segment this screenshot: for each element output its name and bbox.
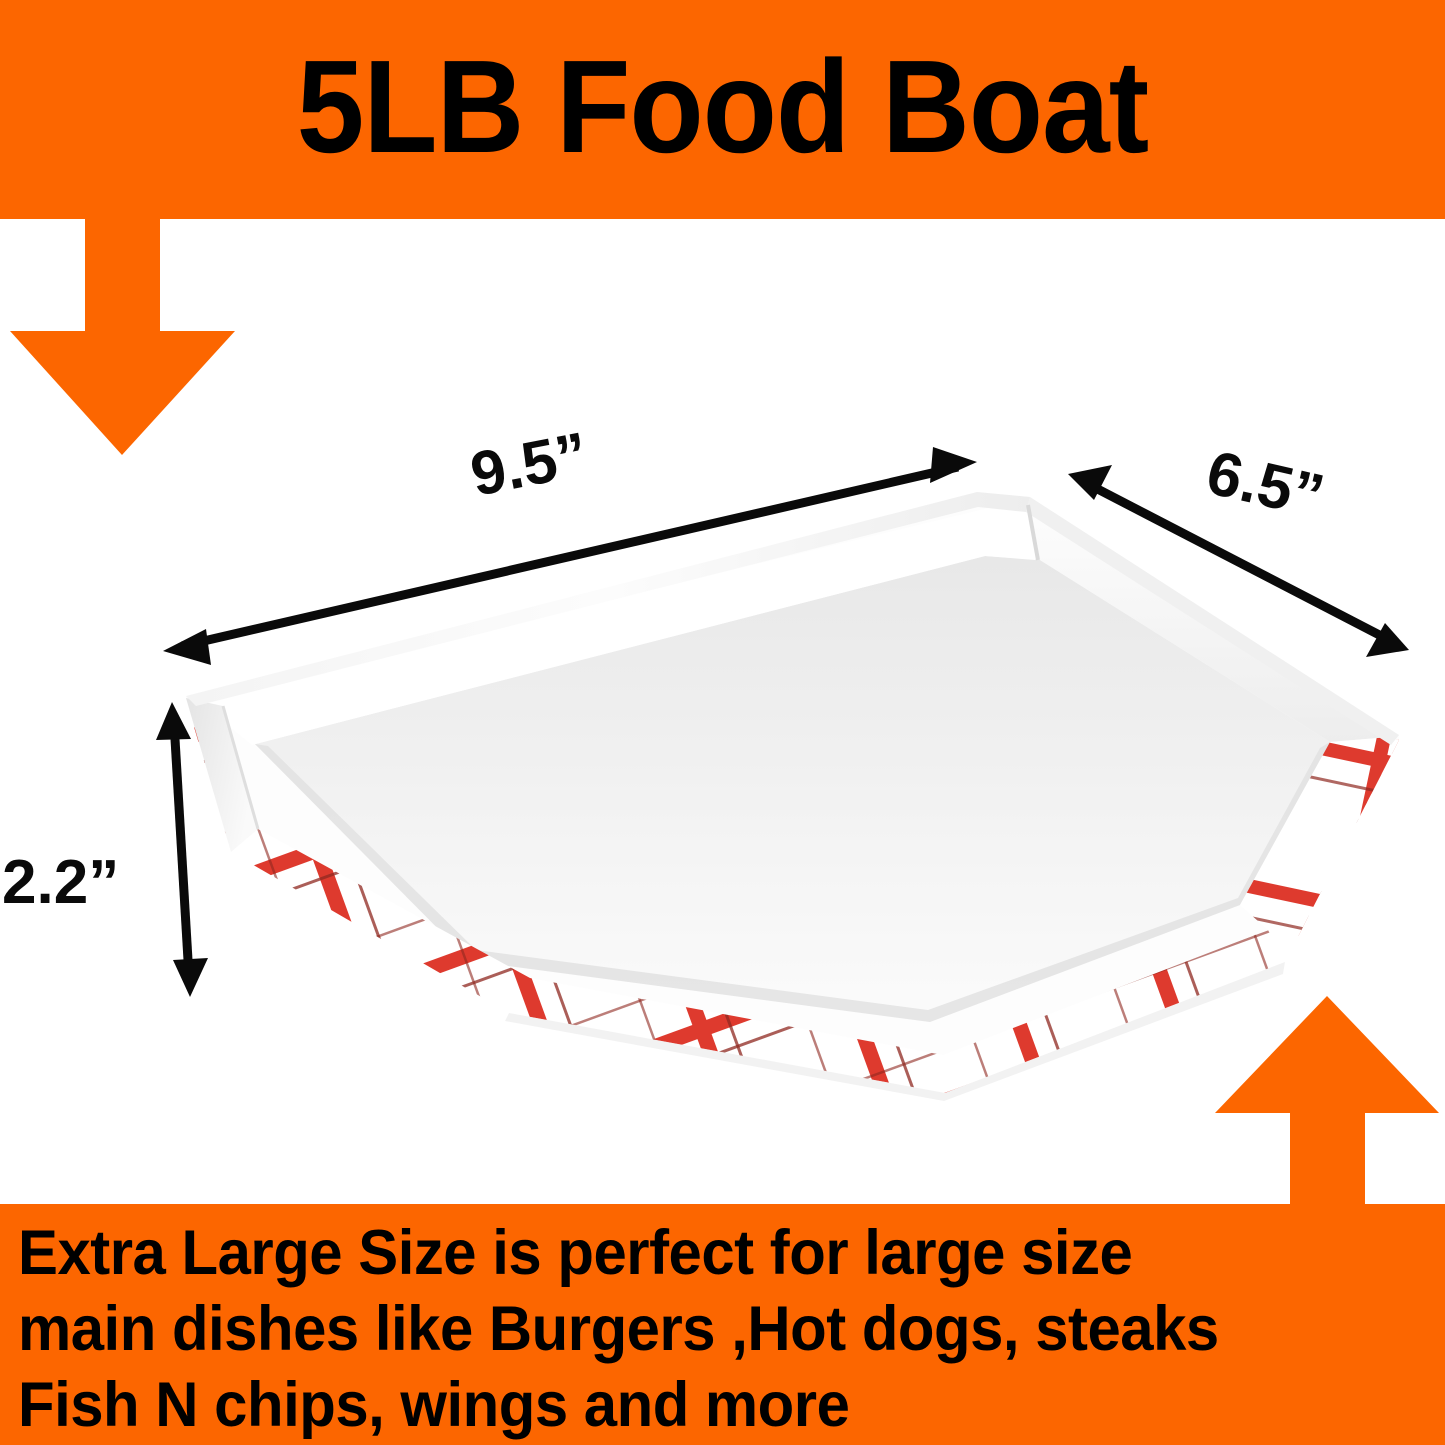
infographic-page: 5LB Food Boat — [0, 0, 1445, 1445]
footer-description: Extra Large Size is perfect for large si… — [18, 1215, 1253, 1443]
dimension-label-height: 2.2” — [2, 852, 119, 914]
footer-line-1: Extra Large Size is perfect for large si… — [18, 1215, 1253, 1291]
footer-line-3: Fish N chips, wings and more — [18, 1367, 1253, 1443]
food-boat-tray — [150, 492, 1445, 1130]
footer-line-2: main dishes like Burgers ,Hot dogs, stea… — [18, 1291, 1253, 1367]
